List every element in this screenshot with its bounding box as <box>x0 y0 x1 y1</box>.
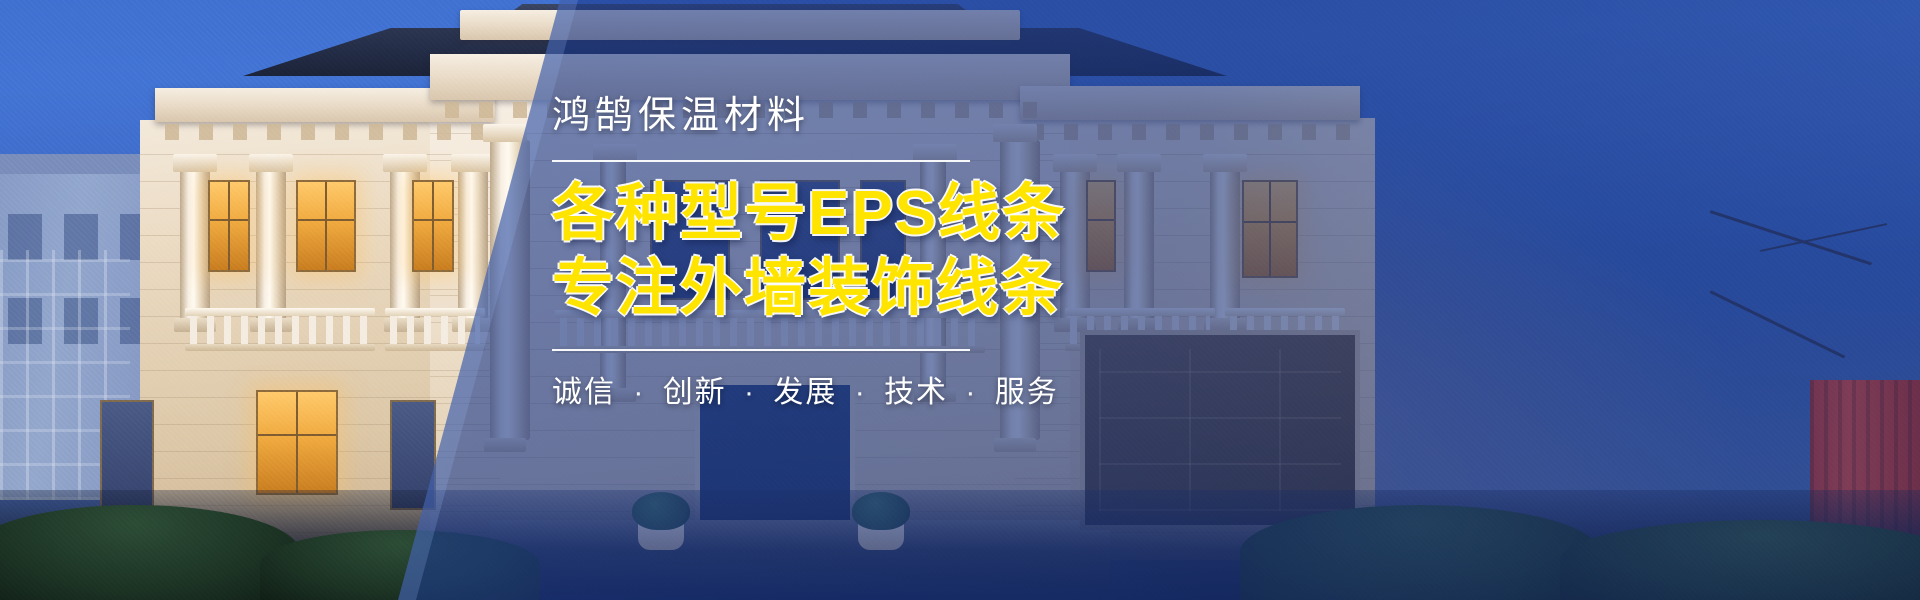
balustrade <box>190 316 370 344</box>
dentil-row-left <box>165 124 485 140</box>
tagline-separator: · <box>633 376 645 409</box>
lit-window <box>256 390 338 495</box>
tagline-separator: · <box>744 376 756 409</box>
tagline-item-4: 服务 <box>995 376 1059 409</box>
tagline-separator: · <box>855 376 867 409</box>
headline-line-2: 专注外墙装饰线条 <box>552 251 1072 327</box>
tagline-item-2: 发展 <box>773 376 837 409</box>
headline: 各种型号EPS线条 专注外墙装饰线条 <box>552 176 1072 327</box>
divider-bottom <box>552 349 970 351</box>
tagline-item-3: 技术 <box>884 376 948 409</box>
tagline: 诚信 · 创新 · 发展 · 技术 · 服务 <box>552 367 1072 411</box>
banner-text-block: 鸿鹄保温材料 各种型号EPS线条 专注外墙装饰线条 诚信 · 创新 · 发展 ·… <box>552 96 1072 411</box>
hedge <box>0 505 300 600</box>
tagline-separator: · <box>965 376 977 409</box>
headline-line-1: 各种型号EPS线条 <box>552 176 1072 252</box>
promotional-banner: 鸿鹄保温材料 各种型号EPS线条 专注外墙装饰线条 诚信 · 创新 · 发展 ·… <box>0 0 1920 600</box>
lit-window <box>296 180 356 272</box>
divider-top <box>552 160 970 162</box>
tagline-item-1: 创新 <box>663 376 727 409</box>
tagline-item-0: 诚信 <box>552 376 616 409</box>
column <box>180 170 210 320</box>
column <box>256 170 286 320</box>
balustrade <box>390 316 480 344</box>
brand-name: 鸿鹄保温材料 <box>552 96 1072 138</box>
lit-window <box>412 180 454 272</box>
lit-window <box>208 180 250 272</box>
